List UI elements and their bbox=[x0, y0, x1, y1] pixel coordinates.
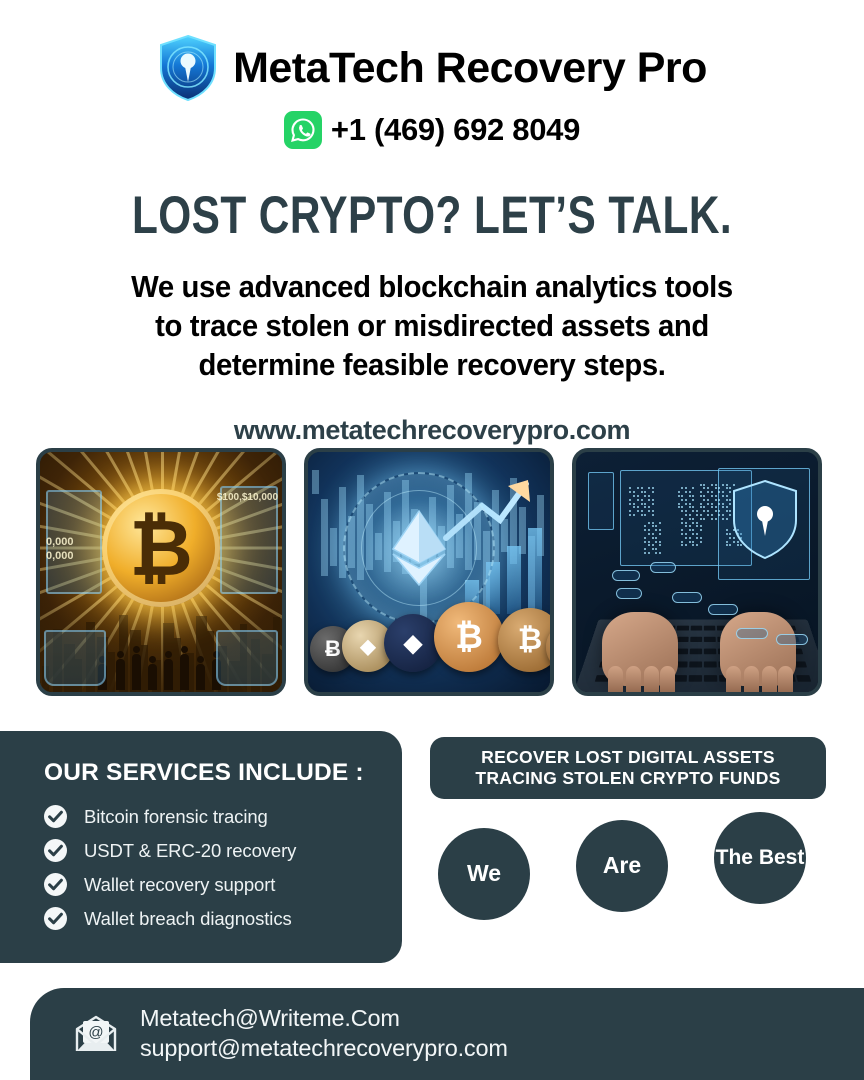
promo-badges: We Are The Best bbox=[430, 812, 826, 920]
list-item: USDT & ERC-20 recovery bbox=[44, 839, 402, 862]
value-label: 0,000 bbox=[46, 550, 74, 562]
check-circle-icon bbox=[44, 907, 67, 930]
crypto-coin-icon: ₿ bbox=[434, 602, 504, 672]
bitcoin-golden-image: ₿ $100,$10,000 0,000 0,000 bbox=[36, 448, 286, 696]
email-address[interactable]: Metatech@Writeme.Com bbox=[140, 1004, 508, 1034]
service-label: Bitcoin forensic tracing bbox=[84, 806, 268, 828]
hero-description-line: We use advanced blockchain analytics too… bbox=[67, 268, 797, 307]
promo-banner-line: RECOVER LOST DIGITAL ASSETS bbox=[481, 747, 775, 768]
services-title: OUR SERVICES INCLUDE : bbox=[44, 759, 402, 787]
brand-name: MetaTech Recovery Pro bbox=[233, 47, 707, 90]
price-label: $100,$10,000 bbox=[217, 492, 278, 503]
email-list: Metatech@Writeme.Com support@metatechrec… bbox=[140, 1004, 508, 1063]
glass-tube-left bbox=[44, 630, 106, 686]
cybersecurity-laptop-image bbox=[572, 448, 822, 696]
promo-badge-the-best: The Best bbox=[714, 812, 806, 904]
email-address[interactable]: support@metatechrecoverypro.com bbox=[140, 1034, 508, 1064]
value-label: 0,000 bbox=[46, 536, 74, 548]
network-node bbox=[708, 604, 738, 615]
shield-keyhole-icon bbox=[157, 34, 219, 102]
hero-description-line: to trace stolen or misdirected assets an… bbox=[67, 307, 797, 346]
page-title: LOST CRYPTO? LET’S TALK. bbox=[86, 185, 777, 246]
services-list: Bitcoin forensic tracing USDT & ERC-20 r… bbox=[44, 805, 402, 930]
network-node bbox=[672, 592, 702, 603]
crypto-coin-icon: ◆ bbox=[384, 614, 442, 672]
check-circle-icon bbox=[44, 873, 67, 896]
image-gallery: ₿ $100,$10,000 0,000 0,000 bbox=[36, 448, 822, 696]
coin-row: Ƀ◆◆₿₿₿ bbox=[308, 594, 550, 678]
security-shield-icon bbox=[730, 478, 800, 562]
holo-panel-small bbox=[588, 472, 614, 530]
contact-footer: @ Metatech@Writeme.Com support@metatechr… bbox=[30, 988, 864, 1080]
check-circle-icon bbox=[44, 839, 67, 862]
ethereum-chart-image: Ƀ◆◆₿₿₿ bbox=[304, 448, 554, 696]
promo-badge-we: We bbox=[438, 828, 530, 920]
glass-tube-right bbox=[216, 630, 278, 686]
promo-badge-are: Are bbox=[576, 820, 668, 912]
promo-banner: RECOVER LOST DIGITAL ASSETS TRACING STOL… bbox=[430, 737, 826, 799]
network-node bbox=[736, 628, 768, 639]
list-item: Bitcoin forensic tracing bbox=[44, 805, 402, 828]
network-node bbox=[612, 570, 640, 581]
website-url[interactable]: www.metatechrecoverypro.com bbox=[0, 415, 864, 446]
crypto-coin-icon: ₿ bbox=[498, 608, 554, 672]
svg-text:@: @ bbox=[88, 1024, 103, 1041]
phone-row[interactable]: +1 (469) 692 8049 bbox=[0, 111, 864, 149]
promo-banner-line: TRACING STOLEN CRYPTO FUNDS bbox=[475, 768, 780, 789]
phone-number[interactable]: +1 (469) 692 8049 bbox=[331, 112, 580, 148]
ethereum-logo-icon bbox=[387, 509, 451, 587]
network-node bbox=[616, 588, 642, 599]
whatsapp-icon[interactable] bbox=[284, 111, 322, 149]
service-label: Wallet breach diagnostics bbox=[84, 908, 292, 930]
services-panel: OUR SERVICES INCLUDE : Bitcoin forensic … bbox=[0, 731, 402, 963]
check-circle-icon bbox=[44, 805, 67, 828]
hero-description-line: determine feasible recovery steps. bbox=[67, 346, 797, 385]
list-item: Wallet recovery support bbox=[44, 873, 402, 896]
list-item: Wallet breach diagnostics bbox=[44, 907, 402, 930]
service-label: USDT & ERC-20 recovery bbox=[84, 840, 296, 862]
envelope-at-icon: @ bbox=[74, 1015, 118, 1053]
service-label: Wallet recovery support bbox=[84, 874, 275, 896]
hero-description: We use advanced blockchain analytics too… bbox=[67, 268, 797, 385]
hand-right bbox=[720, 612, 796, 686]
network-node bbox=[650, 562, 676, 573]
bitcoin-coin-icon: ₿ bbox=[102, 489, 220, 607]
brand-row: MetaTech Recovery Pro bbox=[0, 34, 864, 102]
hand-left bbox=[602, 612, 678, 686]
poster-header: MetaTech Recovery Pro +1 (469) 692 8049 bbox=[0, 0, 864, 149]
network-node bbox=[776, 634, 808, 645]
